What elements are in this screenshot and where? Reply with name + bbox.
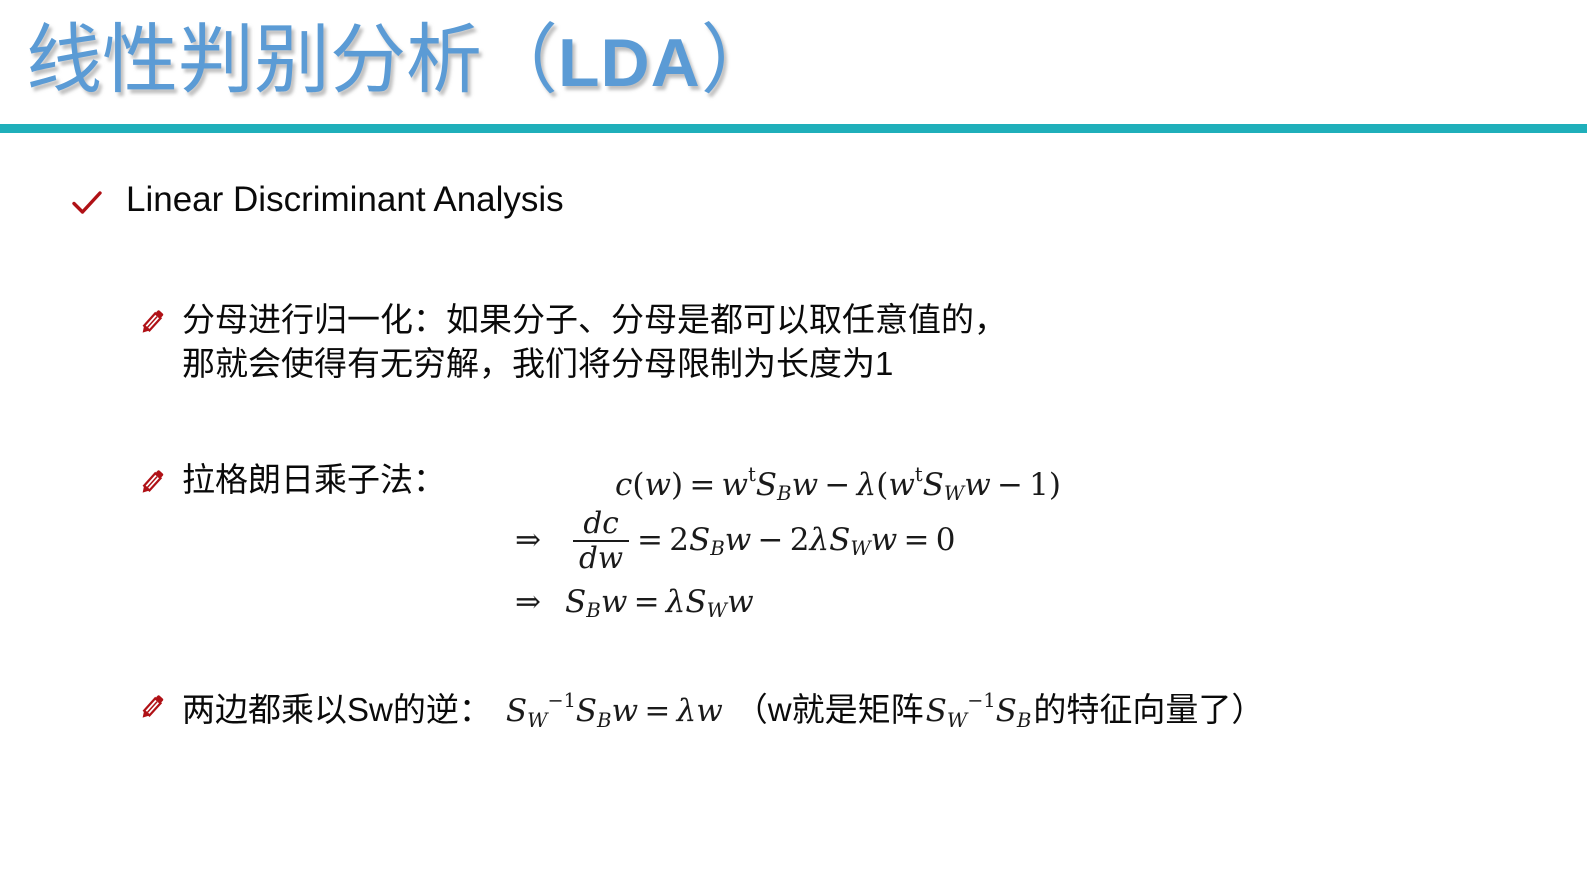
equation-line-4: SW−1SBw = λw bbox=[506, 689, 723, 731]
page-title-cn: 线性判别分析（ bbox=[26, 15, 558, 104]
page-title-cn-end: ） bbox=[701, 15, 777, 104]
pencil-icon bbox=[136, 306, 168, 338]
bullet-normalize-label: 分母进行归一化：如果分子、分母是都可以取任意值的， 那就会使得有无穷解，我们将分… bbox=[182, 298, 1007, 386]
note-matrix-expression: SW−1SB bbox=[926, 689, 1032, 731]
page-title-latin: LDA bbox=[558, 25, 701, 101]
check-icon bbox=[70, 186, 104, 220]
title-divider bbox=[0, 124, 1587, 133]
page-title: 线性判别分析（LDA） bbox=[26, 8, 777, 115]
implies-arrow-icon: ⇒ bbox=[515, 522, 555, 558]
bullet-l1-label: Linear Discriminant Analysis bbox=[126, 177, 564, 223]
equation-line-2: ⇒dcdw= 2SBw − 2λSWw = 0 bbox=[515, 510, 1061, 572]
inverse-row: 两边都乘以Sw的逆： SW−1SBw = λw （w就是矩阵SW−1SB的特征向… bbox=[182, 683, 1264, 732]
note-open-paren: （ bbox=[735, 683, 768, 731]
bullet-multiply-inverse: 两边都乘以Sw的逆： SW−1SBw = λw （w就是矩阵SW−1SB的特征向… bbox=[136, 683, 1264, 732]
note-suffix: 的特征向量了 bbox=[1033, 683, 1231, 731]
implies-arrow-icon: ⇒ bbox=[515, 584, 555, 620]
equation-line-3: ⇒SBw = λSWw bbox=[515, 572, 1061, 634]
equation-2-body: ⇒dcdw= 2SBw − 2λSWw = 0 bbox=[515, 509, 955, 574]
slide: 线性判别分析（LDA） Linear Discriminant Analysis bbox=[0, 0, 1587, 892]
equation-line-1: c(w) = wtSBw − λ(wtSWw − 1) bbox=[515, 458, 1061, 510]
bullet-inverse-label: 两边都乘以Sw的逆： bbox=[182, 688, 492, 732]
equation-3-body: ⇒SBw = λSWw bbox=[515, 584, 754, 623]
derivative-fraction: dcdw bbox=[573, 509, 629, 574]
note-close-paren: ） bbox=[1231, 683, 1264, 731]
eigenvector-note: （w就是矩阵SW−1SB的特征向量了） bbox=[735, 683, 1265, 732]
equation-1-body: c(w) = wtSBw − λ(wtSWw − 1) bbox=[615, 463, 1061, 505]
bullet-lagrange-label: 拉格朗日乘子法： bbox=[182, 458, 446, 502]
bullet-normalize-denominator: 分母进行归一化：如果分子、分母是都可以取任意值的， 那就会使得有无穷解，我们将分… bbox=[136, 298, 1007, 386]
pencil-icon bbox=[136, 691, 168, 723]
slide-title-area: 线性判别分析（LDA） bbox=[0, 0, 1587, 126]
bullet-lagrange-multiplier: 拉格朗日乘子法： bbox=[136, 458, 446, 502]
slide-body: Linear Discriminant Analysis 分母进行归一化：如果分… bbox=[0, 133, 1587, 892]
equation-block: c(w) = wtSBw − λ(wtSWw − 1) ⇒dcdw= 2SBw … bbox=[515, 458, 1061, 634]
note-prefix: w就是矩阵 bbox=[768, 683, 924, 731]
pencil-icon bbox=[136, 466, 168, 498]
bullet-linear-discriminant-analysis: Linear Discriminant Analysis bbox=[70, 177, 564, 223]
